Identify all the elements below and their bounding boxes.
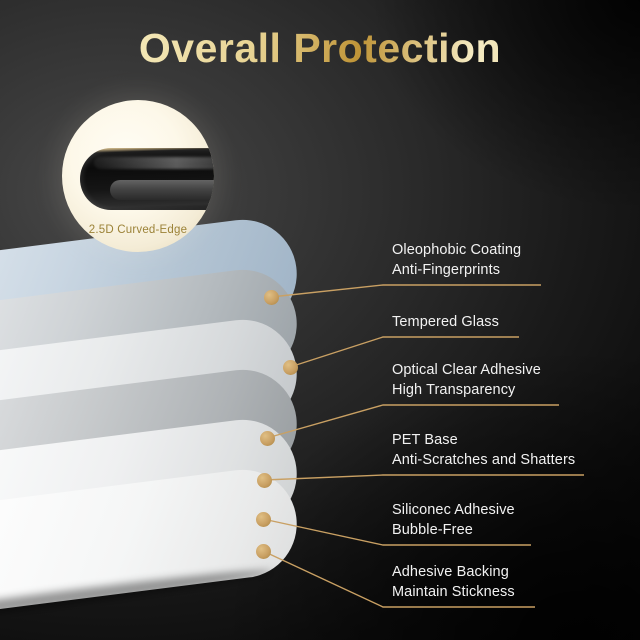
- callout-line-primary: Optical Clear Adhesive: [392, 360, 541, 380]
- layer-anchor-dot: [260, 431, 275, 446]
- callout-line-secondary: Anti-Scratches and Shatters: [392, 450, 575, 470]
- product-infographic: Overall Protection 2.5D Curved-Edge Oleo…: [0, 0, 640, 640]
- layer-anchor-dot: [257, 473, 272, 488]
- curved-edge-caption: 2.5D Curved-Edge: [62, 224, 214, 236]
- page-title: Overall Protection: [0, 24, 640, 73]
- callout-pet-base: PET BaseAnti-Scratches and Shatters: [392, 430, 575, 470]
- layer-anchor-dot: [283, 360, 298, 375]
- layer-anchor-dot: [256, 544, 271, 559]
- curved-edge-closeup: 2.5D Curved-Edge: [62, 100, 214, 252]
- callout-line-primary: Adhesive Backing: [392, 562, 515, 582]
- callout-oleophobic-coating: Oleophobic CoatingAnti-Fingerprints: [392, 240, 521, 280]
- callout-line-primary: Siliconec Adhesive: [392, 500, 515, 520]
- phone-gloss-highlight: [94, 157, 214, 169]
- callout-optical-clear-adhesive: Optical Clear AdhesiveHigh Transparency: [392, 360, 541, 400]
- leader-line: [264, 475, 584, 480]
- callout-line-primary: Tempered Glass: [392, 312, 499, 332]
- leader-lines: [0, 0, 640, 640]
- callout-adhesive-backing: Adhesive BackingMaintain Stickness: [392, 562, 515, 602]
- phone-inner-highlight: [110, 180, 214, 200]
- callout-siliconec-adhesive: Siliconec AdhesiveBubble-Free: [392, 500, 515, 540]
- callout-line-secondary: Maintain Stickness: [392, 582, 515, 602]
- layer-anchor-dot: [256, 512, 271, 527]
- callout-line-primary: Oleophobic Coating: [392, 240, 521, 260]
- callout-line-primary: PET Base: [392, 430, 575, 450]
- callout-line-secondary: Anti-Fingerprints: [392, 260, 521, 280]
- callout-tempered-glass: Tempered Glass: [392, 312, 499, 332]
- leader-line: [271, 285, 541, 297]
- layer-anchor-dot: [264, 290, 279, 305]
- callout-line-secondary: Bubble-Free: [392, 520, 515, 540]
- callout-line-secondary: High Transparency: [392, 380, 541, 400]
- phone-edge-illustration: [80, 148, 214, 210]
- leader-line-svg: [0, 0, 640, 640]
